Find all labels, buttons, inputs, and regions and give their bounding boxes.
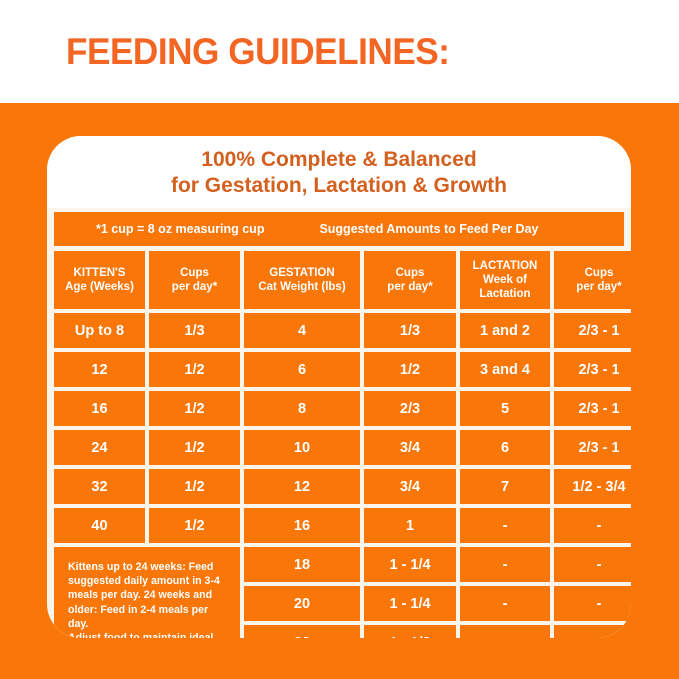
feeding-note-line-4: older: Feed in 2-4 meals per day. — [68, 603, 228, 631]
table-row: Up to 8 — [54, 313, 145, 348]
table-row: 3/4 — [364, 469, 456, 504]
table-row: 32 — [54, 469, 145, 504]
suggested-amounts-text: Suggested Amounts to Feed Per Day — [319, 222, 538, 236]
table-row: 16 — [244, 508, 360, 543]
column-header-kitten-cups: Cups per day* — [149, 251, 240, 309]
table-row: 2/3 - 1 — [554, 352, 631, 387]
column-header-line-2: per day* — [387, 280, 432, 294]
top-banner: FEEDING GUIDELINES: — [0, 0, 679, 103]
feeding-table: KITTEN'S Age (Weeks) Cups per day* GESTA… — [54, 251, 624, 638]
cup-definition-text: *1 cup = 8 oz measuring cup — [96, 222, 264, 236]
column-header-kitten-age: KITTEN'S Age (Weeks) — [54, 251, 145, 309]
table-row: - — [554, 508, 631, 543]
column-header-line-1: Cups — [387, 266, 432, 280]
table-row: 24 — [54, 430, 145, 465]
card-heading: 100% Complete & Balanced for Gestation, … — [47, 136, 631, 208]
column-header-line-2: per day* — [172, 280, 217, 294]
column-header-line-1: LACTATION — [473, 259, 538, 273]
table-row: 3 and 4 — [460, 352, 550, 387]
column-header-line-2: Cat Weight (lbs) — [258, 280, 345, 294]
column-header-gestation-cups: Cups per day* — [364, 251, 456, 309]
table-row: - — [554, 586, 631, 621]
feeding-table-card: 100% Complete & Balanced for Gestation, … — [47, 136, 631, 638]
column-header-line-1: KITTEN'S — [65, 266, 134, 280]
table-row: 16 — [54, 391, 145, 426]
feeding-note-line-3: meals per day. 24 weeks and — [68, 588, 228, 602]
measuring-note-bar: *1 cup = 8 oz measuring cup Suggested Am… — [54, 212, 624, 246]
table-row: 18 — [244, 547, 360, 582]
table-row: 12 — [244, 469, 360, 504]
table-row: 6 — [244, 352, 360, 387]
table-row: 2/3 - 1 — [554, 430, 631, 465]
table-row: 1 — [364, 508, 456, 543]
table-row: 4 — [244, 313, 360, 348]
table-row: 1 and 2 — [460, 313, 550, 348]
card-heading-line-2: for Gestation, Lactation & Growth — [47, 173, 631, 199]
table-row: 12 — [54, 352, 145, 387]
table-row: 1/2 — [149, 391, 240, 426]
feeding-table-grid: KITTEN'S Age (Weeks) Cups per day* GESTA… — [54, 251, 624, 638]
table-row: 8 — [244, 391, 360, 426]
column-header-line-3: Lactation — [473, 287, 538, 301]
table-row: 2/3 — [364, 391, 456, 426]
table-row: - — [554, 547, 631, 582]
column-header-line-2: Age (Weeks) — [65, 280, 134, 294]
column-header-lactation-week: LACTATION Week of Lactation — [460, 251, 550, 309]
table-row: 1/2 — [149, 469, 240, 504]
table-row: 1/2 — [364, 352, 456, 387]
table-row: 10 — [244, 430, 360, 465]
column-header-gestation-weight: GESTATION Cat Weight (lbs) — [244, 251, 360, 309]
table-row: 1 - 1/4 — [364, 586, 456, 621]
feeding-note: Kittens up to 24 weeks: Feed suggested d… — [54, 547, 240, 638]
page-title: FEEDING GUIDELINES: — [66, 31, 450, 73]
table-row: 3/4 — [364, 430, 456, 465]
column-header-lactation-cups: Cups per day* — [554, 251, 631, 309]
table-row: 7 — [460, 469, 550, 504]
table-row: 1 - 1/4 — [364, 547, 456, 582]
feeding-guidelines-page: FEEDING GUIDELINES: 100% Complete & Bala… — [0, 0, 679, 679]
feeding-note-line-2: suggested daily amount in 3-4 — [68, 574, 228, 588]
table-row: 5 — [460, 391, 550, 426]
table-row: - — [554, 625, 631, 638]
table-row: 1/2 — [149, 508, 240, 543]
table-row: - — [460, 586, 550, 621]
table-row: 1/3 — [149, 313, 240, 348]
table-row: 22 — [244, 625, 360, 638]
table-row: - — [460, 547, 550, 582]
table-row: - — [460, 508, 550, 543]
column-header-line-1: Cups — [172, 266, 217, 280]
feeding-note-line-5: Adjust food to maintain ideal — [68, 631, 228, 638]
table-row: - — [460, 625, 550, 638]
column-header-line-2: Week of — [473, 273, 538, 287]
table-row: 6 — [460, 430, 550, 465]
table-row: 40 — [54, 508, 145, 543]
table-row: 1/2 — [149, 352, 240, 387]
table-row: 1 - 1/3 — [364, 625, 456, 638]
table-row: 2/3 - 1 — [554, 391, 631, 426]
table-row: 2/3 - 1 — [554, 313, 631, 348]
table-row: 1/2 — [149, 430, 240, 465]
table-row: 1/3 — [364, 313, 456, 348]
table-row: 1/2 - 3/4 — [554, 469, 631, 504]
column-header-line-2: per day* — [576, 280, 621, 294]
column-header-line-1: Cups — [576, 266, 621, 280]
feeding-note-line-1: Kittens up to 24 weeks: Feed — [68, 560, 228, 574]
card-heading-line-1: 100% Complete & Balanced — [47, 147, 631, 173]
table-row: 20 — [244, 586, 360, 621]
column-header-line-1: GESTATION — [258, 266, 345, 280]
